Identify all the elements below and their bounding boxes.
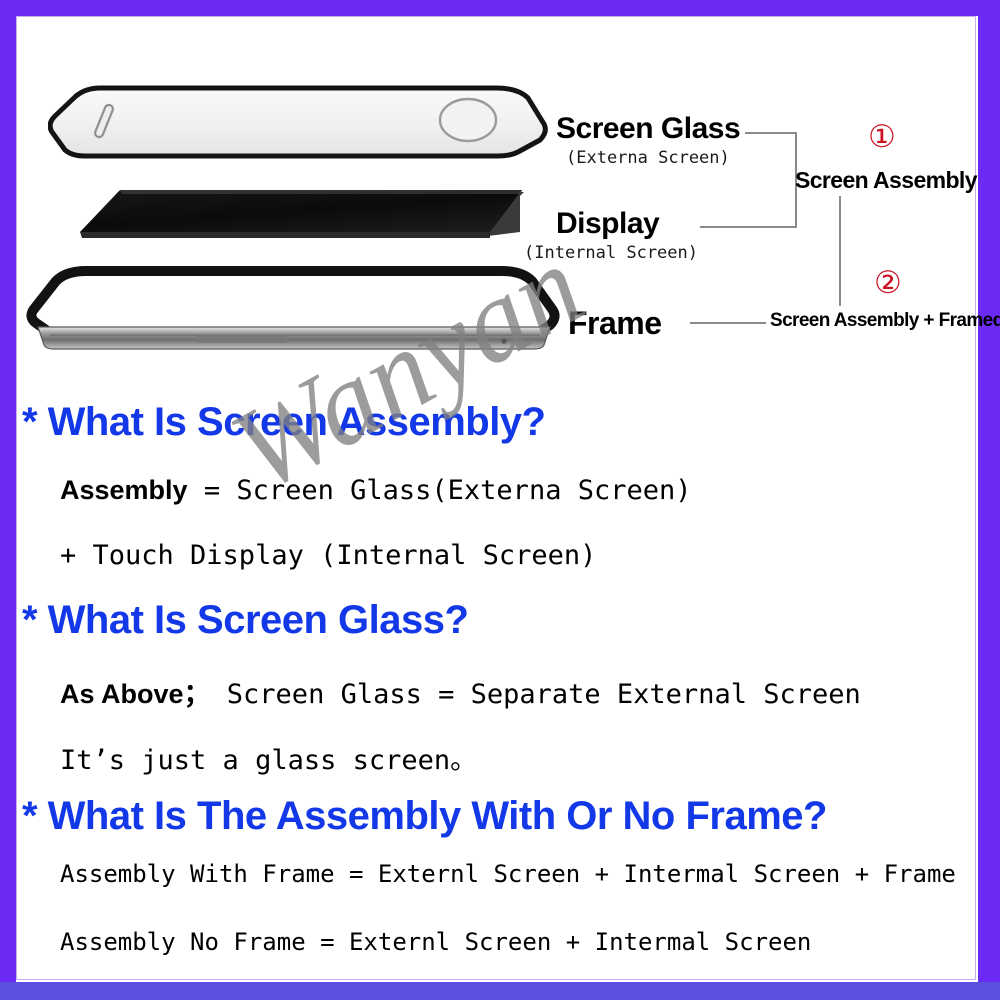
border-left [0, 0, 16, 982]
frame-layer [24, 265, 564, 357]
line-rest: Screen Glass = Separate External Screen [211, 679, 861, 710]
leader-line-display [700, 226, 797, 228]
line-rest: Assembly No Frame = Externl Screen + Int… [60, 928, 811, 956]
section-line: As Above； Screen Glass = Separate Extern… [60, 672, 861, 711]
infographic-page: Screen Glass (Externa Screen) Display (I… [0, 0, 1000, 1000]
section-line: Assembly = Screen Glass(Externa Screen) [60, 475, 692, 506]
group-label-screen-assembly-framed: Screen Assembly + Framed [770, 310, 1000, 332]
line-lead: As Above； [60, 679, 211, 709]
leader-line-frame [690, 322, 766, 324]
section-heading-screen-glass: * What Is Screen Glass? [22, 598, 468, 643]
leader-line-assembly-framed [839, 196, 841, 306]
line-rest: + Touch Display (Internal Screen) [60, 540, 596, 571]
section-heading-screen-assembly: * What Is Screen Assembly? [22, 400, 545, 445]
exploded-phone-diagram [18, 60, 566, 370]
callout-subtitle-screen-glass: (Externa Screen) [566, 148, 730, 168]
callout-title-frame: Frame [568, 305, 662, 342]
section-line: Assembly No Frame = Externl Screen + Int… [60, 928, 811, 956]
section-line: Assembly With Frame = Externl Screen + I… [60, 860, 956, 888]
line-rest: = Screen Glass(Externa Screen) [188, 475, 692, 506]
border-top [16, 0, 1000, 16]
callout-title-display: Display [556, 207, 659, 241]
section-line: + Touch Display (Internal Screen) [60, 540, 596, 571]
screen-glass-layer [48, 82, 548, 160]
border-bottom [0, 982, 1000, 1000]
line-lead: Assembly [60, 475, 188, 505]
circled-number-two-icon: ② [874, 268, 902, 299]
circled-number-one-icon: ① [868, 122, 896, 153]
line-rest: Assembly With Frame = Externl Screen + I… [60, 860, 956, 888]
display-layer [76, 188, 526, 248]
group-label-screen-assembly: Screen Assembly [795, 167, 977, 194]
border-right [978, 0, 1000, 982]
section-line: It’s just a glass screen。 [60, 738, 477, 777]
section-heading-assembly-frame: * What Is The Assembly With Or No Frame? [22, 794, 827, 839]
callout-subtitle-display: (Internal Screen) [524, 243, 698, 263]
leader-line-screen-glass [745, 132, 797, 134]
callout-title-screen-glass: Screen Glass [556, 112, 740, 146]
line-rest: It’s just a glass screen。 [60, 745, 477, 776]
